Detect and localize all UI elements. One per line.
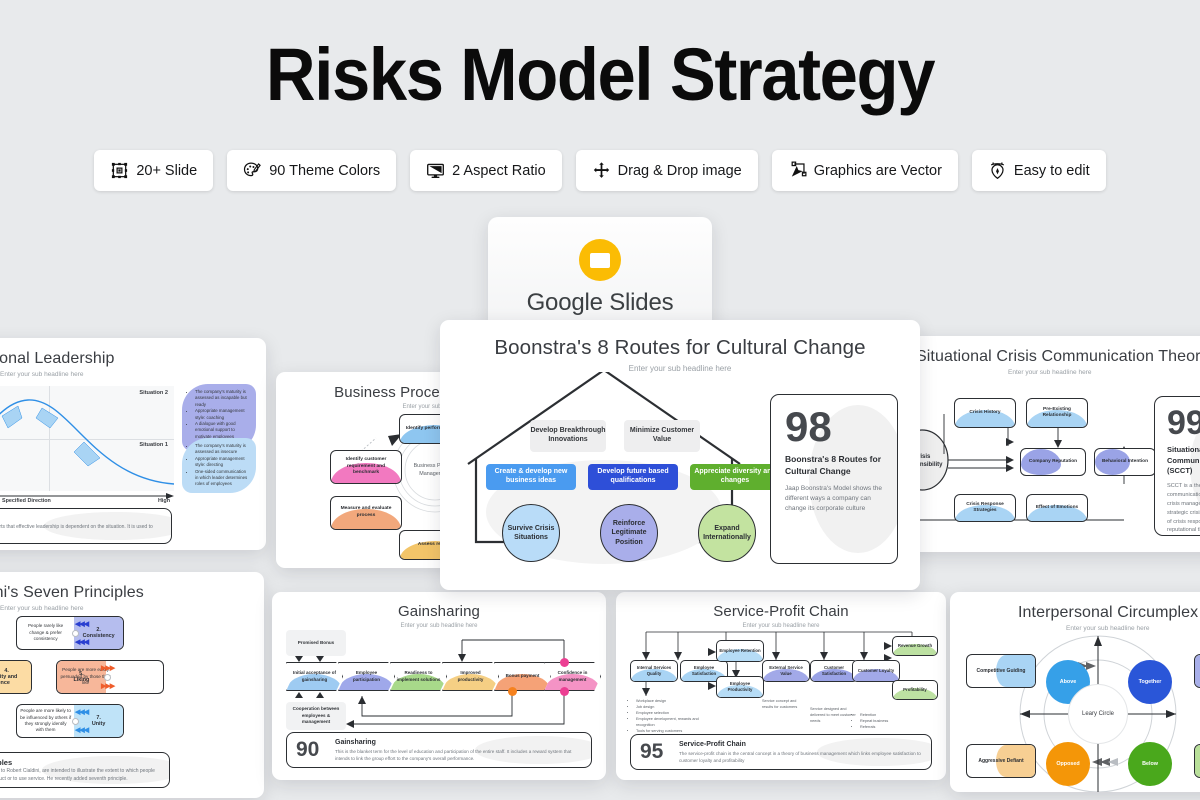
footer-heading: Cialdini's Seven Principles xyxy=(0,753,169,768)
stat-heading: Boonstra's 8 Routes for Cultural Change xyxy=(771,447,897,478)
gain-step[interactable]: Readiness to implement solutions xyxy=(390,662,447,691)
badge-label: Drag & Drop image xyxy=(618,163,742,179)
footer-body: Hersey with Blanchard's Model asserts th… xyxy=(0,524,171,539)
badge-label: 20+ Slide xyxy=(136,163,197,179)
footer-body: The service-profit chain is the central … xyxy=(679,750,923,764)
note-blob: The company's maturity is assessed as in… xyxy=(182,438,256,493)
badge-easy-to-edit[interactable]: Easy to edit xyxy=(972,150,1106,191)
slide-subtitle: Enter your sub headline here xyxy=(1008,369,1200,376)
principle-card[interactable]: People trends to submit authority 4.Auth… xyxy=(0,660,32,694)
bar-box[interactable]: Develop future based qualifications xyxy=(588,464,678,490)
principle-desc: People are more likely to be influenced … xyxy=(17,708,74,734)
badge-label: 90 Theme Colors xyxy=(269,163,380,179)
spc-detail-list: RetentionRepeat businessReferrals xyxy=(854,712,900,730)
stat-number: 98 xyxy=(771,395,897,447)
spc-node[interactable]: Profitability xyxy=(892,680,938,700)
flow-dot xyxy=(560,658,569,667)
circumplex-box[interactable]: Dependent Reticent xyxy=(1194,744,1200,778)
slide-subtitle: Enter your sub headline here xyxy=(0,605,264,612)
principle-card[interactable]: People are more likely to be influenced … xyxy=(16,704,124,738)
bell-curve xyxy=(0,386,174,491)
spc-node[interactable]: External Service Value xyxy=(762,660,810,682)
slide-service-profit-chain[interactable]: Service-Profit Chain Enter your sub head… xyxy=(616,592,946,780)
roof-box[interactable]: Develop Breakthrough Innovations xyxy=(530,420,606,452)
slide-title: Cialdini's Seven Principles xyxy=(0,584,264,602)
badge-aspect-ratio[interactable]: 2 Aspect Ratio xyxy=(410,150,562,191)
slide-gainsharing[interactable]: Gainsharing Enter your sub headline here… xyxy=(272,592,606,780)
process-node[interactable]: Identify customer requirement and benchm… xyxy=(330,450,402,484)
stat-heading: Situational Crisis Communication Theory … xyxy=(1155,439,1200,477)
vector-node-icon xyxy=(788,161,807,180)
stat-body: SCCT is a theory in the field of crisis … xyxy=(1155,477,1200,536)
gain-step[interactable]: Employee participation xyxy=(338,662,395,691)
pen-nib-icon xyxy=(988,161,1007,180)
scct-node[interactable]: Pre-Existing Relationship xyxy=(1026,398,1088,428)
scct-node[interactable]: Effect of Emotions xyxy=(1026,494,1088,522)
spc-node[interactable]: Revenue Growth xyxy=(892,636,938,656)
route-circle[interactable]: Survive Crisis Situations xyxy=(502,504,560,562)
slide-subtitle: Enter your sub headline here xyxy=(0,371,266,378)
spc-node[interactable]: Internal Services Quality xyxy=(630,660,678,682)
stat-number: 99 xyxy=(1155,397,1200,439)
stat-card: 98 Boonstra's 8 Routes for Cultural Chan… xyxy=(770,394,898,564)
stat-number: 95 xyxy=(640,741,663,762)
gain-step[interactable]: Confidence in management xyxy=(544,662,601,691)
stat-number: 90 xyxy=(296,739,319,760)
scct-node[interactable]: Behavioral Intention xyxy=(1094,448,1156,476)
monitor-icon xyxy=(426,161,445,180)
principle-name: Liking xyxy=(73,677,89,683)
badge-vector-graphics[interactable]: Graphics are Vector xyxy=(772,150,958,191)
spc-node[interactable]: Employee Productivity xyxy=(716,676,764,698)
spc-detail-list: Workplace designJob designEmployee selec… xyxy=(630,698,702,734)
circumplex-box[interactable]: Helping Cooperative xyxy=(1194,654,1200,688)
gain-step[interactable]: Initial acceptance of gainsharing xyxy=(286,662,343,691)
footer-body: The principles of influence, according t… xyxy=(0,768,169,783)
scct-node[interactable]: Crisis History xyxy=(954,398,1016,428)
principle-name: Authority and Obedience xyxy=(0,674,31,686)
palette-icon xyxy=(243,161,262,180)
scct-node[interactable]: Crisis Response Strategies xyxy=(954,494,1016,522)
slide-footer-card: 95 Service-Profit Chain The service-prof… xyxy=(630,734,932,770)
bar-box[interactable]: Appreciate diversity and changes xyxy=(690,464,780,490)
stat-body: Jaap Boonstra's Model shows the differen… xyxy=(771,478,897,515)
move-arrows-icon xyxy=(592,161,611,180)
principle-card[interactable]: People rarely like change & prefer consi… xyxy=(16,616,124,650)
slide-footer-card: 90 Gainsharing This is the blanket term … xyxy=(286,732,592,768)
spc-node[interactable]: Customer Loyalty xyxy=(852,660,900,682)
route-circle[interactable]: Expand Internationally xyxy=(698,504,756,562)
axis-row: Specified Direction High xyxy=(0,493,174,507)
slide-title: Situational Leadership xyxy=(0,350,266,368)
spc-node[interactable]: Customer Satisfaction xyxy=(810,660,858,682)
circumplex-circle[interactable]: Together xyxy=(1128,660,1172,704)
badge-theme-colors[interactable]: 90 Theme Colors xyxy=(227,150,396,191)
principle-name: Unity xyxy=(92,721,105,727)
spc-node[interactable]: Employee Retention xyxy=(716,640,764,662)
flow-dot xyxy=(560,687,569,696)
google-slides-label: Google Slides xyxy=(488,289,712,317)
axis-label: Specified Direction xyxy=(2,498,51,504)
badge-label: Graphics are Vector xyxy=(814,163,942,179)
footer-heading: Situational Leadership xyxy=(0,509,171,524)
circumplex-box[interactable]: Competitive Guiding xyxy=(966,654,1036,688)
axis-label-right: High xyxy=(158,498,170,504)
leary-circle-center: Leary Circle xyxy=(1068,684,1128,744)
slide-cialdini-principles[interactable]: Cialdini's Seven Principles Enter your s… xyxy=(0,572,264,798)
scct-node[interactable]: Company Reputation xyxy=(1020,448,1086,476)
circumplex-box[interactable]: Aggressive Defiant xyxy=(966,744,1036,778)
badge-drag-drop[interactable]: Drag & Drop image xyxy=(576,150,758,191)
bar-box[interactable]: Create & develop new business ideas xyxy=(486,464,576,490)
slide-scct[interactable]: Situational Crisis Communication Theory … xyxy=(908,336,1200,552)
page-title: Risks Model Strategy xyxy=(42,38,1158,112)
roof-box[interactable]: Minimize Customer Value xyxy=(624,420,700,452)
gain-step[interactable]: Improved productivity xyxy=(442,662,499,691)
badge-label: Easy to edit xyxy=(1014,163,1090,179)
spc-detail-list: Service concept and results for customer… xyxy=(762,698,808,710)
slide-interpersonal-circumplex[interactable]: Interpersonal Circumplex Enter your sub … xyxy=(950,592,1200,792)
slide-title: Boonstra's 8 Routes for Cultural Change xyxy=(440,336,920,360)
slide-situational-leadership[interactable]: Situational Leadership Enter your sub he… xyxy=(0,338,266,550)
principle-desc: People rarely like change & prefer consi… xyxy=(17,623,74,642)
slide-boonstra-routes[interactable]: Boonstra's 8 Routes for Cultural Change … xyxy=(440,320,920,590)
crop-frame-icon xyxy=(110,161,129,180)
footer-heading: Gainsharing xyxy=(335,739,376,746)
process-node[interactable]: Measure and evaluate process xyxy=(330,496,402,530)
circumplex-circle[interactable]: Opposed xyxy=(1046,742,1090,786)
badge-label: 2 Aspect Ratio xyxy=(452,163,546,179)
feature-badges: 20+ Slide 90 Theme Colors 2 Aspect Ratio… xyxy=(0,150,1200,191)
badge-slide-count[interactable]: 20+ Slide xyxy=(94,150,213,191)
page-root: Risks Model Strategy 20+ Slide 90 Theme … xyxy=(0,0,1200,800)
circumplex-circle[interactable]: Below xyxy=(1128,742,1172,786)
gain-step[interactable]: Bonus payment xyxy=(494,662,551,691)
principle-card[interactable]: People are more easily persuaded by thos… xyxy=(56,660,164,694)
stat-card: 99 Situational Crisis Communication Theo… xyxy=(1154,396,1200,536)
route-circle[interactable]: Reinforce Legitimate Position xyxy=(600,504,658,562)
footer-heading: Service-Profit Chain xyxy=(679,741,746,748)
slide-footer-card: Cialdini's Seven Principles The principl… xyxy=(0,752,170,788)
flow-dot xyxy=(508,687,517,696)
slide-footer-card: Situational Leadership Hersey with Blanc… xyxy=(0,508,172,544)
slide-title: Situational Crisis Communication Theory … xyxy=(916,348,1200,366)
quadrant-grid: Situation 3 Situation 2 Situation 4 Situ… xyxy=(0,386,174,491)
footer-body: This is the blanket term for the level o… xyxy=(335,748,583,762)
google-slides-icon xyxy=(579,239,621,281)
